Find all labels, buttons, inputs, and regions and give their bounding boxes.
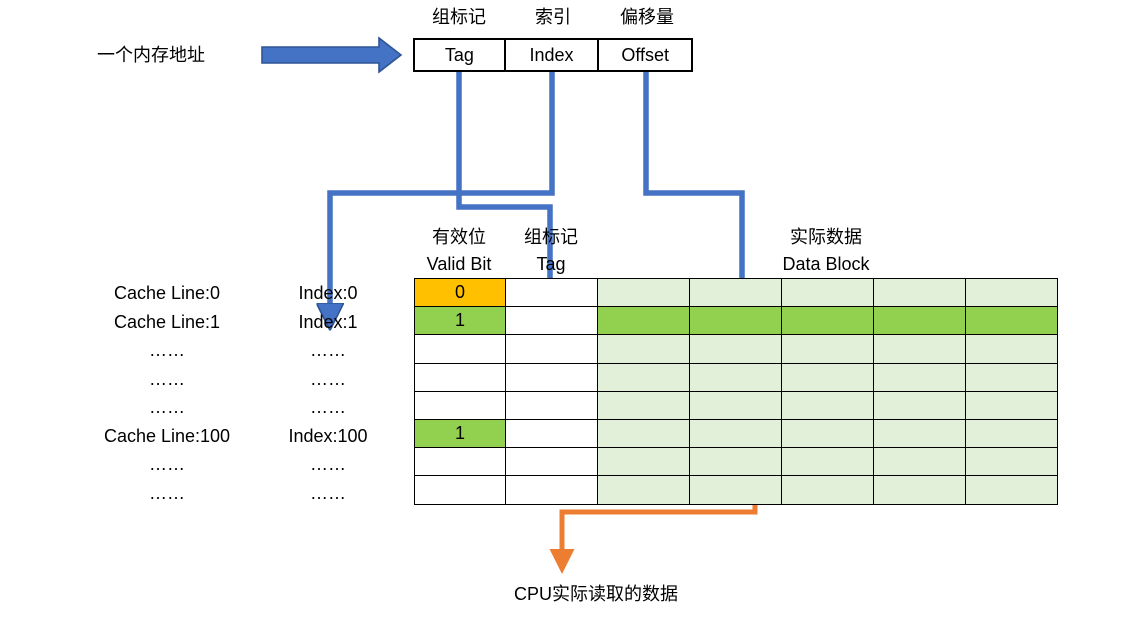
cache-cell-valid-bit <box>415 363 506 391</box>
cache-cell-data-block <box>690 448 782 476</box>
address-header-offset: 偏移量 <box>620 8 674 26</box>
cache-cell-data-block <box>598 391 690 419</box>
cache-cell-data-block <box>874 391 966 419</box>
cache-cell-valid-bit <box>415 391 506 419</box>
cache-line-label: Cache Line:100 <box>104 427 230 445</box>
cache-index-label: …… <box>310 370 346 388</box>
cache-cell-data-block <box>598 279 690 307</box>
cache-table-row <box>415 363 1058 391</box>
cache-cell-data-block <box>966 279 1058 307</box>
cache-table-row: 1 <box>415 307 1058 335</box>
cache-cell-data-block <box>598 307 690 335</box>
cache-table-row <box>415 448 1058 476</box>
address-header-tag: 组标记 <box>432 8 486 26</box>
cache-cell-tag <box>506 307 598 335</box>
memory-address-arrow <box>262 38 401 72</box>
cache-cell-tag <box>506 476 598 504</box>
cache-index-label: Index:100 <box>288 427 367 445</box>
cache-cell-data-block <box>690 476 782 504</box>
cache-index-label: …… <box>310 484 346 502</box>
cache-cell-data-block <box>782 363 874 391</box>
cache-index-label: Index:1 <box>298 313 357 331</box>
cache-line-label: …… <box>149 370 185 388</box>
cache-cell-data-block <box>782 307 874 335</box>
cache-cell-data-block <box>966 419 1058 447</box>
cache-cell-tag <box>506 279 598 307</box>
offset-connector-arrow <box>646 72 742 312</box>
cache-line-label: Cache Line:1 <box>114 313 220 331</box>
cache-cell-valid-bit: 1 <box>415 419 506 447</box>
cache-cell-data-block <box>598 419 690 447</box>
cache-cell-tag <box>506 448 598 476</box>
cache-header-datablock-en: Data Block <box>782 255 869 273</box>
cache-cell-data-block <box>966 363 1058 391</box>
cache-cell-data-block <box>598 448 690 476</box>
cache-cell-valid-bit <box>415 476 506 504</box>
cache-cell-data-block <box>874 335 966 363</box>
address-header-index: 索引 <box>535 8 571 26</box>
cache-cell-data-block <box>598 476 690 504</box>
tag-connector-arrow <box>459 72 550 312</box>
cache-table: 011 <box>414 278 1058 505</box>
cache-cell-data-block <box>690 335 782 363</box>
cache-cell-valid-bit <box>415 335 506 363</box>
cache-line-label: Cache Line:0 <box>114 284 220 302</box>
cache-header-tag-cn: 组标记 <box>524 228 578 246</box>
cache-cell-data-block <box>690 307 782 335</box>
cache-cell-data-block <box>966 476 1058 504</box>
cache-cell-data-block <box>874 307 966 335</box>
address-field-tag[interactable]: Tag <box>415 40 506 70</box>
cache-header-tag-en: Tag <box>536 255 565 273</box>
cache-header-validbit-cn: 有效位 <box>432 228 486 246</box>
cache-cell-data-block <box>966 391 1058 419</box>
cache-line-label: …… <box>149 455 185 473</box>
cache-header-validbit-en: Valid Bit <box>427 255 492 273</box>
cache-cell-valid-bit: 0 <box>415 279 506 307</box>
cache-cell-data-block <box>690 279 782 307</box>
cache-table-row: 0 <box>415 279 1058 307</box>
cache-header-datablock-cn: 实际数据 <box>790 228 862 246</box>
memory-address-box: Tag Index Offset <box>413 38 693 72</box>
cache-cell-valid-bit <box>415 448 506 476</box>
address-field-offset[interactable]: Offset <box>599 40 691 70</box>
cpu-read-result-label: CPU实际读取的数据 <box>514 585 678 603</box>
cache-table-row: 1 <box>415 419 1058 447</box>
cache-line-label: …… <box>149 398 185 416</box>
address-field-index[interactable]: Index <box>506 40 600 70</box>
cache-line-label: …… <box>149 341 185 359</box>
cache-cell-tag <box>506 419 598 447</box>
cache-cell-data-block <box>874 363 966 391</box>
cache-cell-tag <box>506 391 598 419</box>
cache-cell-data-block <box>874 419 966 447</box>
cache-cell-data-block <box>874 476 966 504</box>
cache-cell-data-block <box>966 307 1058 335</box>
cache-table-row <box>415 335 1058 363</box>
cache-cell-data-block <box>874 448 966 476</box>
cache-line-label: …… <box>149 484 185 502</box>
cache-cell-data-block <box>782 448 874 476</box>
cache-index-label: …… <box>310 455 346 473</box>
cache-cell-data-block <box>782 419 874 447</box>
memory-address-label: 一个内存地址 <box>97 46 205 64</box>
cache-index-label: Index:0 <box>298 284 357 302</box>
cache-index-label: …… <box>310 341 346 359</box>
cache-cell-tag <box>506 335 598 363</box>
cache-cell-data-block <box>690 391 782 419</box>
cache-cell-data-block <box>782 476 874 504</box>
diagram-canvas: 一个内存地址 组标记 索引 偏移量 Tag Index Offset 有效位 V… <box>0 0 1142 638</box>
cache-cell-data-block <box>782 279 874 307</box>
cache-cell-valid-bit: 1 <box>415 307 506 335</box>
cache-cell-data-block <box>782 335 874 363</box>
cache-cell-tag <box>506 363 598 391</box>
cache-cell-data-block <box>598 335 690 363</box>
cache-cell-data-block <box>966 335 1058 363</box>
cache-table-row <box>415 391 1058 419</box>
cache-cell-data-block <box>690 363 782 391</box>
cache-cell-data-block <box>966 448 1058 476</box>
cache-cell-data-block <box>690 419 782 447</box>
cache-index-label: …… <box>310 398 346 416</box>
cache-cell-data-block <box>598 363 690 391</box>
cache-cell-data-block <box>782 391 874 419</box>
cache-cell-data-block <box>874 279 966 307</box>
cache-table-row <box>415 476 1058 504</box>
